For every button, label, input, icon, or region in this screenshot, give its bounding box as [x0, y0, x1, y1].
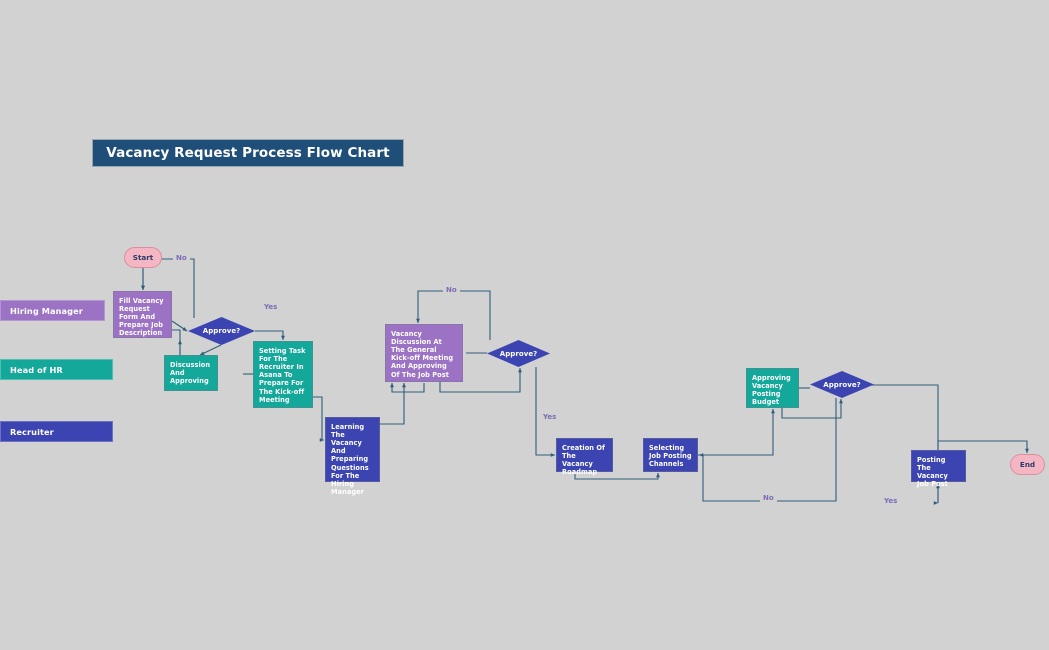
decision-label: Approve?: [487, 340, 550, 367]
chart-title-bar: Vacancy Request Process Flow Chart: [92, 139, 404, 167]
node-label: Selecting Job Posting Channels: [644, 439, 697, 472]
node-label: Discussion And Approving: [165, 356, 217, 389]
node-creation-vacancy-roadmap[interactable]: Creation Of The Vacancy Roadmap: [556, 438, 613, 472]
terminal-start-label: Start: [133, 253, 153, 262]
node-discussion-and-approving[interactable]: Discussion And Approving: [164, 355, 218, 391]
node-label: Learning The Vacancy And Preparing Quest…: [326, 418, 379, 500]
node-label: Vacancy Discussion At The General Kick-o…: [386, 325, 462, 383]
edge-label-no-2: No: [443, 286, 460, 294]
decision-approve-2[interactable]: Approve?: [487, 340, 550, 367]
node-learning-vacancy[interactable]: Learning The Vacancy And Preparing Quest…: [325, 417, 380, 482]
node-label: Fill Vacancy Request Form And Prepare Jo…: [114, 292, 171, 342]
lane-hiring-manager: Hiring Manager: [0, 300, 105, 321]
node-fill-vacancy-request[interactable]: Fill Vacancy Request Form And Prepare Jo…: [113, 291, 172, 338]
node-label: Setting Task For The Recruiter In Asana …: [254, 342, 312, 408]
decision-label: Approve?: [810, 371, 874, 398]
lane-label: Recruiter: [1, 427, 54, 437]
terminal-start[interactable]: Start: [124, 247, 162, 268]
node-label: Approving Vacancy Posting Budget: [747, 369, 798, 410]
page-title: Vacancy Request Process Flow Chart: [106, 145, 389, 161]
node-selecting-job-posting-channels[interactable]: Selecting Job Posting Channels: [643, 438, 698, 472]
node-approving-budget[interactable]: Approving Vacancy Posting Budget: [746, 368, 799, 408]
decision-approve-3[interactable]: Approve?: [810, 371, 874, 398]
node-setting-task-asana[interactable]: Setting Task For The Recruiter In Asana …: [253, 341, 313, 408]
lane-label: Hiring Manager: [1, 306, 83, 316]
edge-label-yes-2: Yes: [540, 413, 559, 421]
flowchart-canvas: Vacancy Request Process Flow Chart Hirin…: [0, 0, 1049, 650]
terminal-end[interactable]: End: [1010, 454, 1045, 475]
edge-label-no-3: No: [760, 494, 777, 502]
edge-label-yes-1: Yes: [261, 303, 280, 311]
lane-label: Head of HR: [1, 365, 63, 375]
node-vacancy-discussion-kickoff[interactable]: Vacancy Discussion At The General Kick-o…: [385, 324, 463, 382]
node-posting-vacancy-job-post[interactable]: Posting The Vacancy Job Post: [911, 450, 966, 482]
edge-label-yes-3: Yes: [881, 497, 900, 505]
lane-recruiter: Recruiter: [0, 421, 113, 442]
edge-label-no-1: No: [173, 254, 190, 262]
terminal-end-label: End: [1020, 460, 1035, 469]
node-label: Creation Of The Vacancy Roadmap: [557, 439, 612, 480]
decision-label: Approve?: [188, 317, 255, 345]
node-label: Posting The Vacancy Job Post: [912, 451, 965, 492]
decision-approve-1[interactable]: Approve?: [188, 317, 255, 345]
lane-head-of-hr: Head of HR: [0, 359, 113, 380]
